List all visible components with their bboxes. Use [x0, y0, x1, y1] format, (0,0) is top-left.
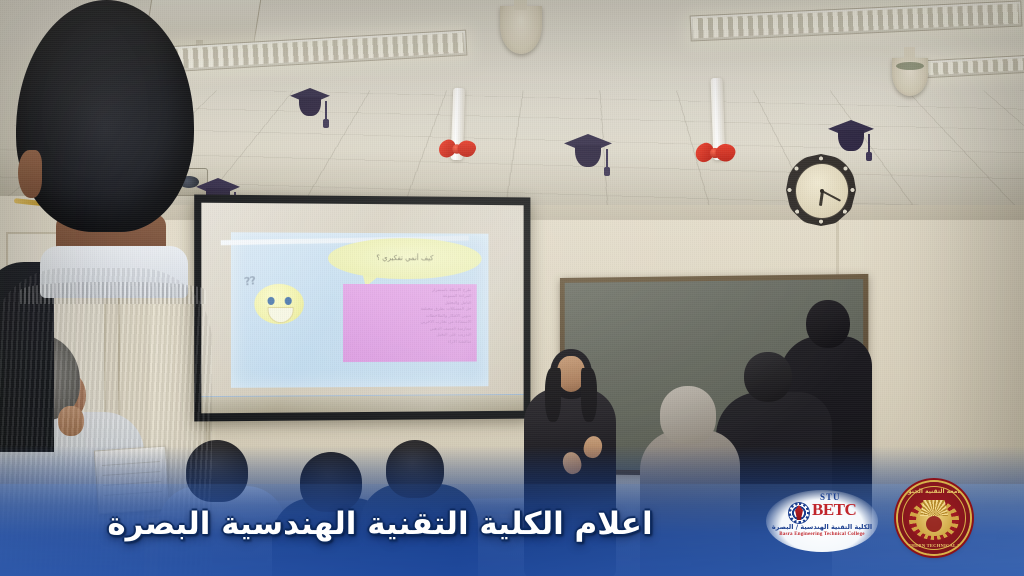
clock-center-pin	[820, 189, 824, 193]
ribbon-bow-icon	[439, 139, 476, 160]
slide-bullet-line: التدريب على التخيل	[347, 333, 471, 339]
audience-head	[300, 452, 362, 512]
slide-bullet-line: التأمل والتحليل	[347, 301, 471, 307]
banner-title: اعلام الكلية التقنية الهندسية البصرة	[0, 506, 760, 542]
slide-bullet-line: طرح الأسئلة باستمرار	[347, 288, 471, 294]
clock-hour-hand	[818, 191, 823, 206]
projection-screen-surface: كيف أنمي تفكيري ؟ ?? طرح الأسئلة باستمرا…	[201, 203, 523, 414]
seated-person-head	[660, 386, 716, 444]
question-marks-text: ??	[243, 274, 256, 288]
smiley-eye-left	[268, 297, 275, 305]
slide-bullet-line: مناقشة الآراء	[347, 340, 471, 346]
slide-bullet-line: حل المشكلات بطرق مختلفة	[347, 307, 471, 313]
betc-logo-arabic-name: الكلية التقنية الهندسية / البصرة	[766, 523, 878, 531]
screenshot-frame: كيف أنمي تفكيري ؟ ?? طرح الأسئلة باستمرا…	[0, 0, 1024, 576]
foreground-man-sweater-ribbing	[20, 282, 206, 304]
ribbon-bow-icon	[695, 142, 735, 164]
clock-minute-hand	[822, 190, 841, 202]
slide-bullet-line: ممارسة العصف الذهني	[347, 327, 471, 333]
seal-ring	[902, 486, 966, 550]
stu-logo[interactable]: الجامعة التقنية الجنوبية SOUTHERN TECHNI…	[898, 482, 970, 554]
seated-person	[640, 430, 740, 576]
smiley-mouth	[268, 307, 294, 323]
projection-screen: كيف أنمي تفكيري ؟ ?? طرح الأسئلة باستمرا…	[194, 195, 530, 422]
presenter-hijab-left	[545, 368, 561, 422]
speech-bubble-text: كيف أنمي تفكيري ؟	[376, 255, 433, 263]
slide-bullet-line: تدوين الأفكار والملاحظات	[347, 314, 471, 320]
betc-logo[interactable]: STU BETC الكلية التقنية الهندسية / البصر…	[766, 490, 878, 552]
graduation-cap-icon	[828, 120, 874, 154]
slide-bullet-line: الاستفادة من تجارب الآخرين	[347, 320, 471, 326]
presenter-body	[524, 388, 616, 576]
smiley-eye-right	[284, 297, 291, 305]
seated-person-head	[744, 352, 792, 402]
speech-bubble: كيف أنمي تفكيري ؟	[328, 238, 482, 280]
audience-head	[386, 440, 444, 498]
presentation-slide: كيف أنمي تفكيري ؟ ?? طرح الأسئلة باستمرا…	[231, 232, 489, 388]
slide-bullet-line: القراءة المتنوعة	[347, 294, 471, 300]
screen-bottom-bar	[201, 395, 523, 413]
graduation-cap-icon	[290, 88, 330, 118]
seated-person-head	[806, 300, 850, 348]
betc-logo-acronym: BETC	[812, 500, 856, 520]
smiley-face-icon	[255, 284, 305, 324]
gear-icon	[788, 502, 810, 524]
clock-face	[795, 163, 849, 219]
betc-logo-english-name: Basra Engineering Technical College	[766, 532, 878, 537]
presenter-hijab-right	[581, 368, 597, 422]
foreground-man-ear	[18, 150, 42, 198]
stu-logo-english-name: SOUTHERN TECHNICAL UNIVERSITY	[898, 543, 970, 548]
graduation-cap-icon	[564, 134, 612, 170]
slide-bullet-box: طرح الأسئلة باستمرار القراءة المتنوعة ال…	[343, 284, 476, 363]
stu-logo-arabic-name: الجامعة التقنية الجنوبية	[898, 488, 970, 495]
